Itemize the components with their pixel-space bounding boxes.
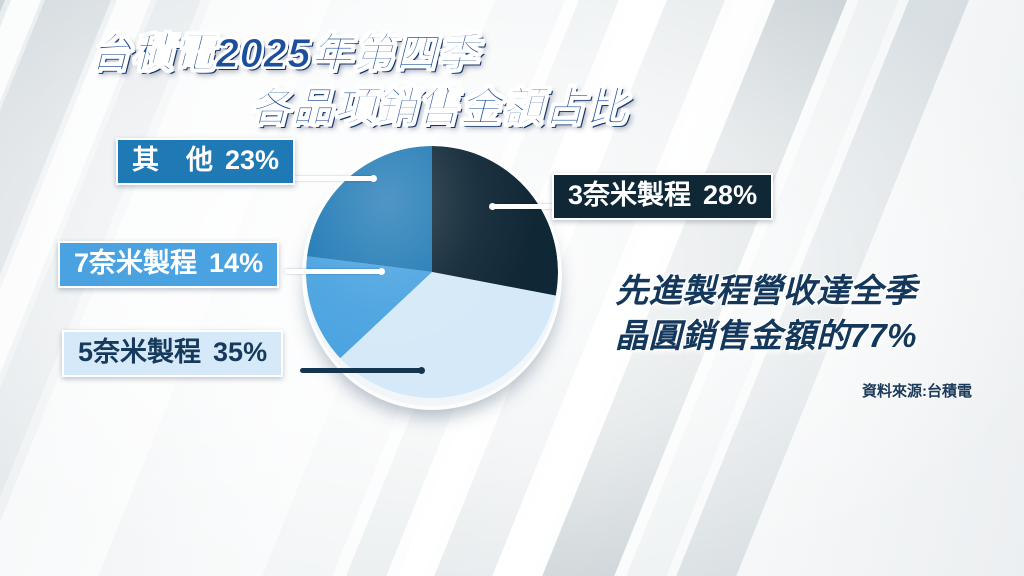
label-other[interactable]: 其 他 23%: [116, 138, 295, 185]
leader-dot-other: [370, 175, 377, 182]
label-5nm[interactable]: 5奈米製程 35%: [62, 330, 283, 377]
label-7nm-pct: 14%: [209, 250, 263, 277]
infographic-canvas: 台積電2025年第四季 各品項銷售金額占比 3奈米製程 28%5奈米製程 35%…: [0, 0, 1024, 576]
label-7nm-name: 7奈米製程: [74, 250, 197, 277]
title-line-1: 台積電2025年第四季: [0, 28, 960, 78]
pie-slice-3奈米製程[interactable]: 3奈米製程 28%: [432, 146, 558, 296]
label-other-name: 其 他: [132, 147, 213, 174]
label-other-pct: 23%: [225, 147, 279, 174]
pie-chart: 3奈米製程 28%5奈米製程 35%7奈米製程 14%其他 23%: [306, 146, 564, 404]
page-title: 台積電2025年第四季 各品項銷售金額占比: [0, 28, 960, 132]
label-7nm[interactable]: 7奈米製程 14%: [58, 241, 279, 288]
label-5nm-name: 5奈米製程: [78, 339, 201, 366]
leader-dot-3nm: [489, 203, 496, 210]
label-3nm[interactable]: 3奈米製程 28%: [552, 173, 773, 220]
leader-line-5nm: [300, 368, 422, 373]
label-3nm-name: 3奈米製程: [568, 182, 691, 209]
callout-line-2: 晶圓銷售金額的77%: [560, 313, 972, 358]
pie-slice-其他[interactable]: 其他 23%: [307, 146, 432, 272]
source-credit: 資料來源:台積電: [700, 380, 972, 401]
title-line-2: 各品項銷售金額占比: [0, 82, 960, 132]
label-3nm-pct: 28%: [703, 182, 757, 209]
label-5nm-pct: 35%: [213, 339, 267, 366]
leader-line-7nm: [284, 269, 382, 274]
callout-highlight: 先進製程營收達全季 晶圓銷售金額的77%: [560, 268, 972, 358]
leader-dot-7nm: [378, 268, 385, 275]
leader-dot-5nm: [418, 367, 425, 374]
callout-line-1: 先進製程營收達全季: [560, 268, 972, 313]
